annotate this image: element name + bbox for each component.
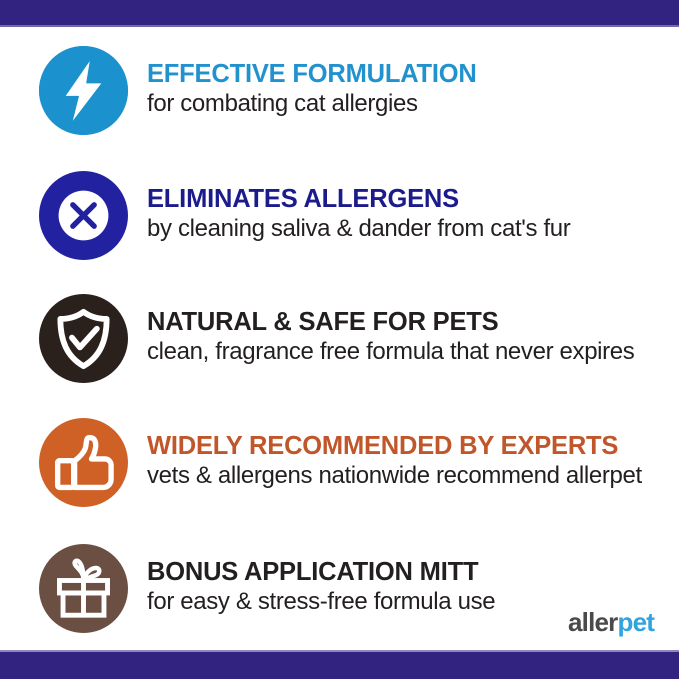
feature-list-graphic: EFFECTIVE FORMULATION for combating cat … — [0, 0, 679, 679]
feature-row: WIDELY RECOMMENDED BY EXPERTS vets & all… — [0, 407, 679, 517]
feature-subtitle: by cleaning saliva & dander from cat's f… — [147, 216, 679, 242]
shield-check-icon — [39, 294, 128, 383]
thumbs-up-icon — [39, 418, 128, 507]
feature-title: EFFECTIVE FORMULATION — [147, 61, 679, 89]
feature-row: NATURAL & SAFE FOR PETS clean, fragrance… — [0, 283, 679, 393]
lightning-bolt-icon — [39, 46, 128, 135]
gift-box-icon — [39, 544, 128, 633]
logo-text-aller: aller — [568, 607, 618, 637]
feature-text: WIDELY RECOMMENDED BY EXPERTS vets & all… — [147, 433, 679, 491]
feature-row: EFFECTIVE FORMULATION for combating cat … — [0, 35, 679, 145]
feature-list: EFFECTIVE FORMULATION for combating cat … — [0, 27, 679, 650]
feature-text: EFFECTIVE FORMULATION for combating cat … — [147, 61, 679, 119]
feature-subtitle: clean, fragrance free formula that never… — [147, 339, 679, 365]
feature-subtitle: for combating cat allergies — [147, 91, 679, 117]
feature-title: ELIMINATES ALLERGENS — [147, 186, 679, 214]
bottom-accent-bar — [0, 652, 679, 679]
allerpet-logo: allerpet — [568, 609, 654, 635]
feature-title: NATURAL & SAFE FOR PETS — [147, 309, 679, 337]
feature-text: ELIMINATES ALLERGENS by cleaning saliva … — [147, 186, 679, 244]
feature-subtitle: vets & allergens nationwide recommend al… — [147, 463, 679, 489]
logo-text-pet: pet — [618, 607, 655, 637]
circle-x-icon — [39, 171, 128, 260]
top-accent-bar — [0, 0, 679, 25]
feature-title: WIDELY RECOMMENDED BY EXPERTS — [147, 433, 679, 461]
feature-row: ELIMINATES ALLERGENS by cleaning saliva … — [0, 160, 679, 270]
feature-text: NATURAL & SAFE FOR PETS clean, fragrance… — [147, 309, 679, 367]
feature-title: BONUS APPLICATION MITT — [147, 559, 679, 587]
